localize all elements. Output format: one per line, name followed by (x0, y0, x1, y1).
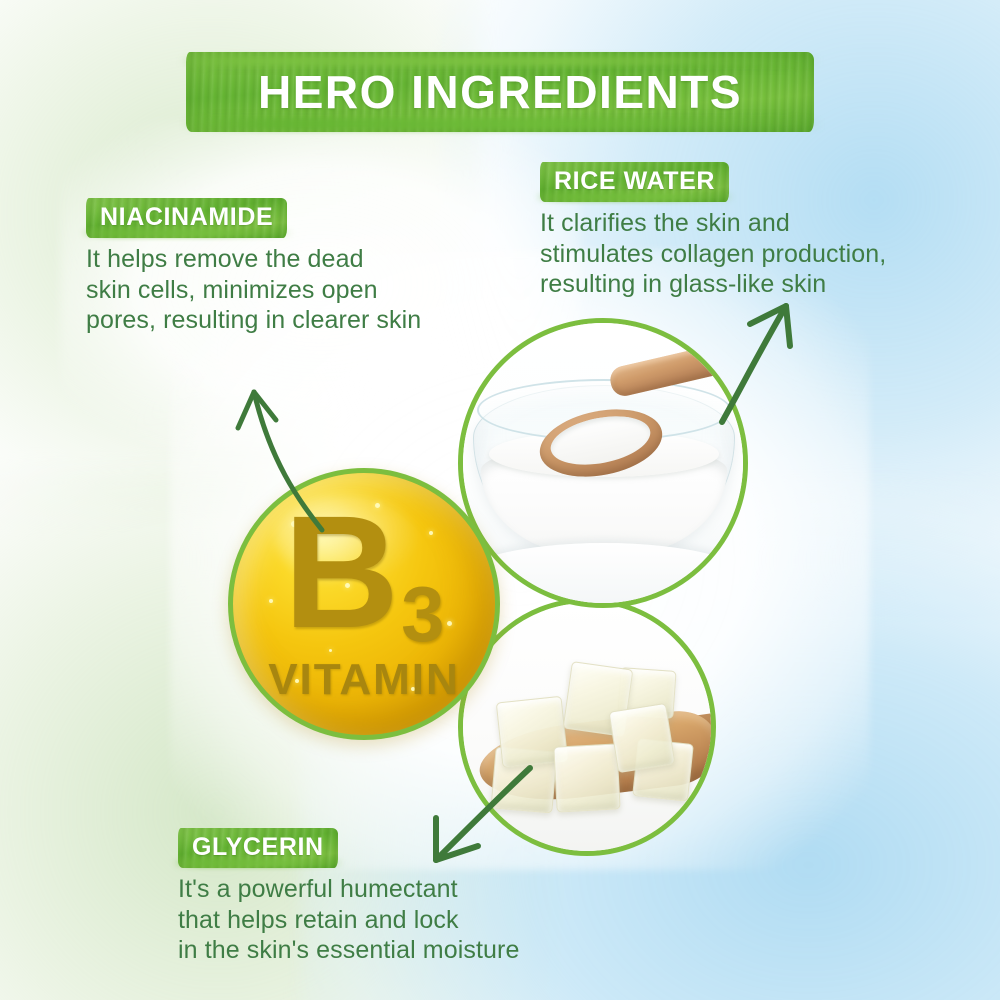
infographic-canvas: HERO INGREDIENTS NIACINAMIDE It helps re… (0, 0, 1000, 1000)
vitamin-letter: B (284, 503, 400, 641)
vitamin-word: VITAMIN (233, 655, 495, 705)
rice-water-photo (458, 318, 748, 608)
ingredient-block-niacinamide: NIACINAMIDE It helps remove the dead ski… (86, 198, 421, 336)
ingredient-label-rice-water: RICE WATER (554, 167, 715, 196)
page-title: HERO INGREDIENTS (186, 52, 814, 132)
ingredient-label-tag-rice-water: RICE WATER (540, 162, 729, 202)
ingredient-label-tag-glycerin: GLYCERIN (178, 828, 338, 868)
vitamin-b3-letters: B 3 (233, 503, 495, 653)
gel-cube (609, 703, 676, 773)
glycerin-scene (463, 603, 711, 851)
ingredient-description-rice-water: It clarifies the skin and stimulates col… (540, 208, 886, 300)
white-plate (458, 543, 748, 608)
vitamin-number: 3 (401, 575, 444, 653)
ingredient-description-niacinamide: It helps remove the dead skin cells, min… (86, 244, 421, 336)
ingredient-block-rice-water: RICE WATER It clarifies the skin and sti… (540, 162, 886, 300)
ingredient-label-glycerin: GLYCERIN (192, 833, 324, 862)
glycerin-photo (458, 598, 716, 856)
ingredient-label-tag-niacinamide: NIACINAMIDE (86, 198, 287, 238)
rice-water-scene (463, 323, 743, 603)
ingredient-description-glycerin: It's a powerful humectant that helps ret… (178, 874, 519, 966)
page-title-banner: HERO INGREDIENTS (186, 52, 814, 132)
ingredient-label-niacinamide: NIACINAMIDE (100, 203, 273, 232)
vitamin-b3-badge: B 3 VITAMIN (228, 468, 500, 740)
gel-cube (553, 743, 620, 812)
